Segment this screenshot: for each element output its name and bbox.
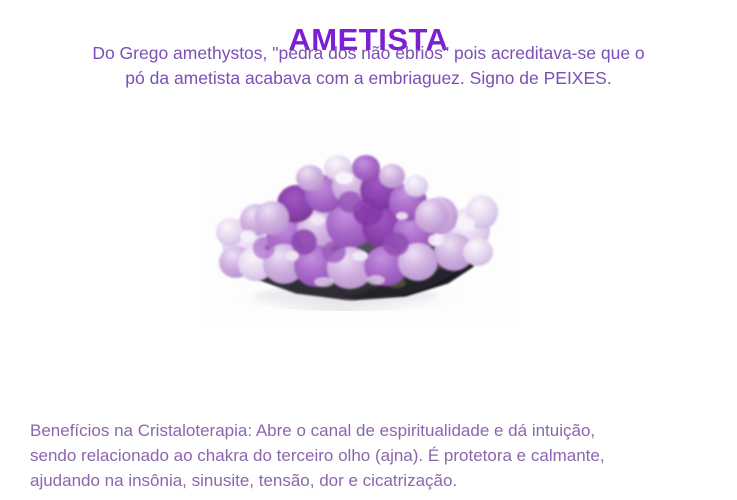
amethyst-illustration (200, 120, 520, 322)
benefits-line-1: Benefícios na Cristaloterapia: Abre o ca… (30, 418, 720, 443)
amethyst-crystal-cluster-photo (200, 120, 520, 322)
benefits-line-3: ajudando na insônia, sinusite, tensão, d… (30, 468, 720, 493)
intro-line-1: Do Grego amethystos, "pedra dos não ébri… (28, 41, 709, 66)
intro-paragraph: Do Grego amethystos, "pedra dos não ébri… (28, 41, 709, 91)
benefits-paragraph: Benefícios na Cristaloterapia: Abre o ca… (30, 418, 720, 493)
intro-line-2: pó da ametista acabava com a embriaguez.… (28, 66, 709, 91)
document-page: AMETISTA Do Grego amethystos, "pedra dos… (0, 0, 737, 500)
benefits-line-2: sendo relacionado ao chakra do terceiro … (30, 443, 720, 468)
